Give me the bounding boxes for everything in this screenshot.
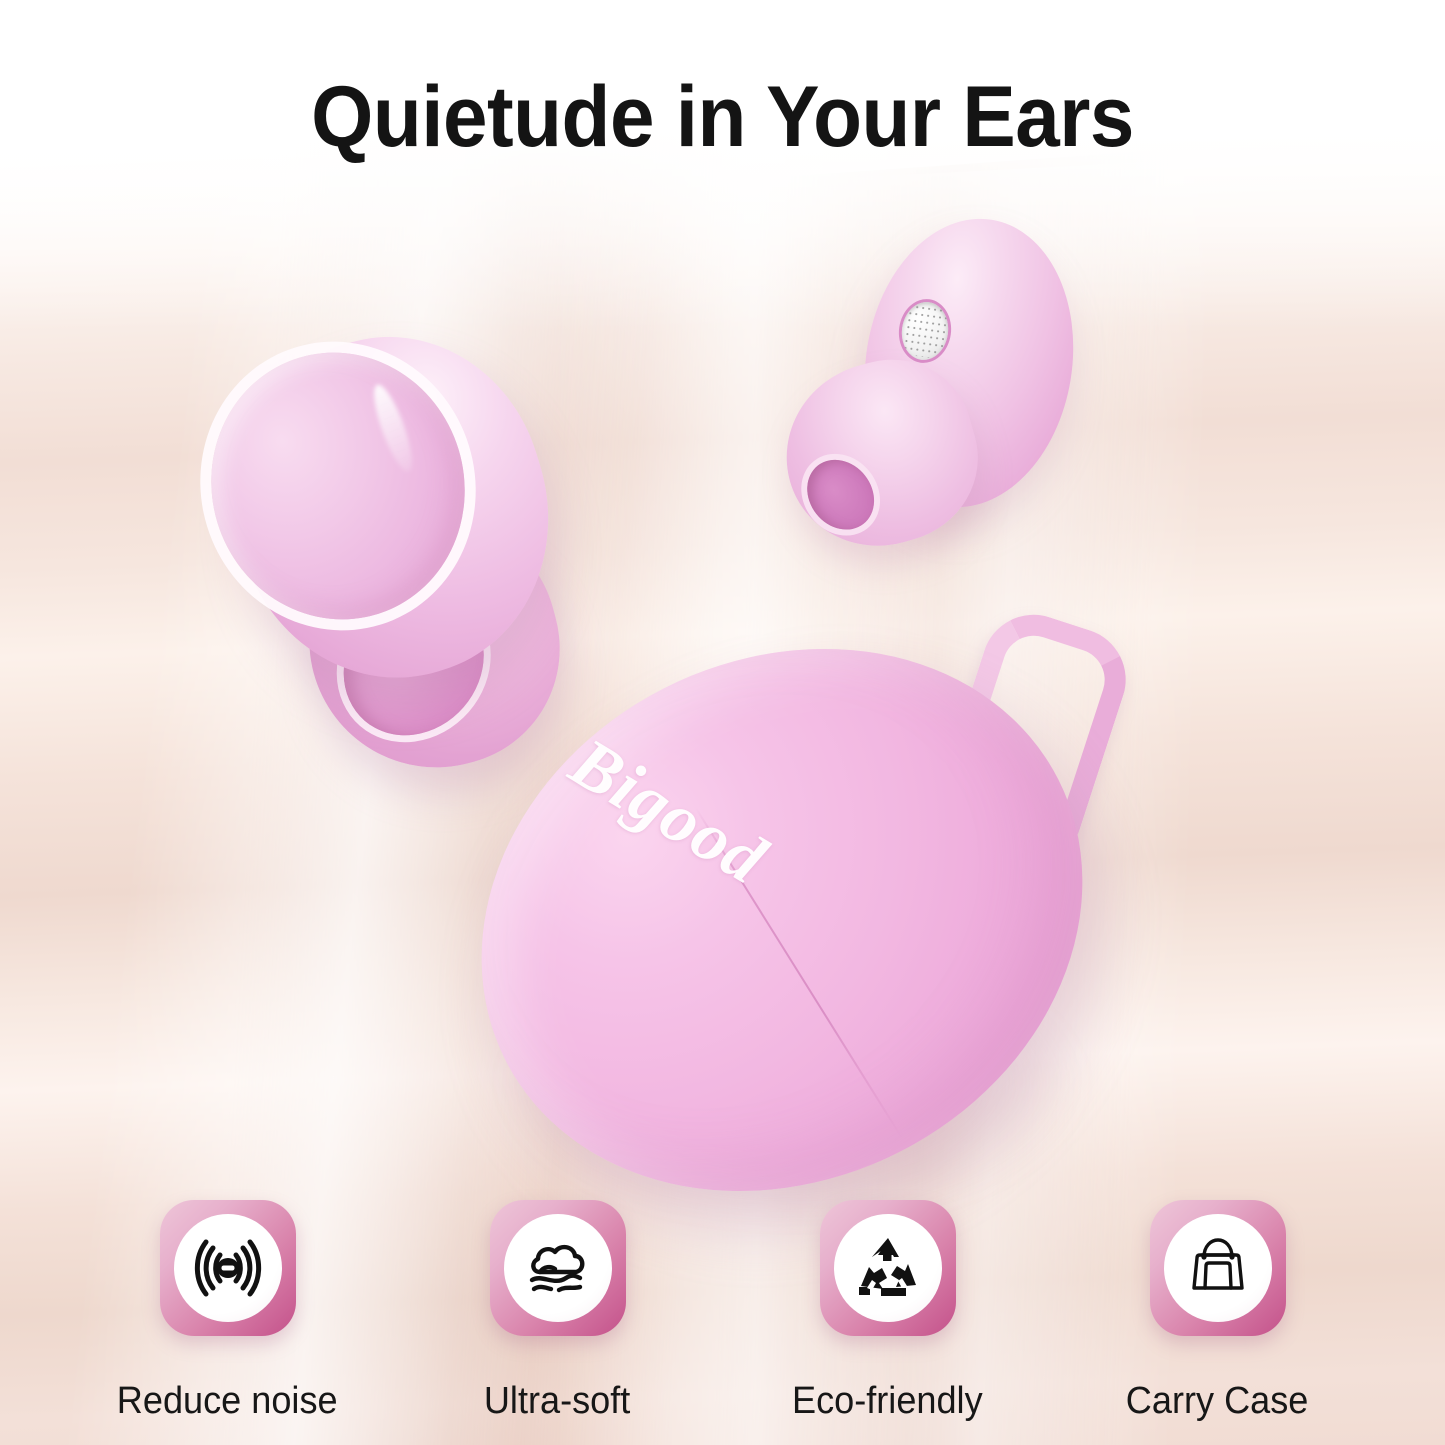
- feature-badge: [160, 1200, 296, 1336]
- badge-inner-circle: [834, 1214, 942, 1322]
- charging-case: Bigood: [452, 612, 1212, 1232]
- feature-badge: [820, 1200, 956, 1336]
- feature-item-reduce-noise: Reduce noise: [158, 1200, 298, 1423]
- feature-badge: [490, 1200, 626, 1336]
- feature-item-eco-friendly: Eco-friendly: [818, 1200, 958, 1423]
- feature-label: Eco-friendly: [792, 1380, 983, 1423]
- right-earbud-nozzle-opening: [793, 446, 887, 542]
- feature-label: Reduce noise: [117, 1380, 338, 1423]
- feature-item-carry-case: Carry Case: [1148, 1200, 1288, 1423]
- feature-label: Carry Case: [1126, 1380, 1309, 1423]
- cloud-soft-icon: [518, 1228, 598, 1308]
- badge-inner-circle: [1164, 1214, 1272, 1322]
- feature-label: Ultra-soft: [484, 1380, 630, 1423]
- right-earbud: [778, 218, 1078, 548]
- feature-list: Reduce noise Ultra-soft: [0, 1200, 1445, 1423]
- recycle-icon: [850, 1230, 926, 1306]
- badge-inner-circle: [174, 1214, 282, 1322]
- feature-item-ultra-soft: Ultra-soft: [488, 1200, 628, 1423]
- product-poster: Quietude in Your Ears Bigood: [0, 0, 1445, 1445]
- noise-cancel-icon: [189, 1229, 267, 1307]
- badge-inner-circle: [504, 1214, 612, 1322]
- feature-badge: [1150, 1200, 1286, 1336]
- handbag-icon: [1180, 1230, 1256, 1306]
